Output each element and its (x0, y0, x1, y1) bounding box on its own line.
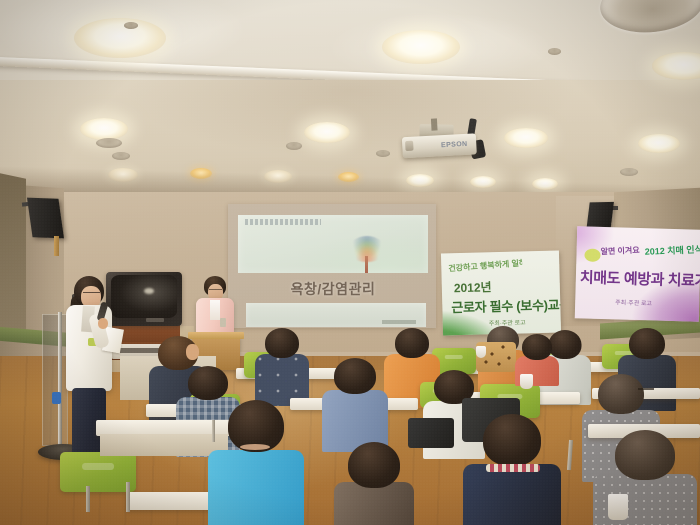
sprinkler-head-icon (548, 48, 561, 55)
ceiling-projector: EPSON (401, 120, 489, 158)
chair-leg (126, 482, 130, 512)
paper-cup (608, 494, 628, 520)
downlight (74, 18, 166, 58)
sprinkler-head-icon (620, 168, 638, 176)
banner-pink-main-text: 치매도 예방과 치료가 가 (580, 266, 700, 291)
chair-leg (212, 420, 215, 442)
banner-pink-subtitle-left: 알면 이겨요 (600, 245, 639, 258)
audience-member (480, 414, 544, 525)
downlight (304, 122, 350, 143)
slide-footer-mark (382, 320, 416, 324)
presenter-hand (98, 318, 108, 329)
audience-head (483, 414, 541, 466)
audience-torso (208, 450, 304, 525)
chair[interactable] (60, 452, 136, 492)
audience-torso (463, 464, 561, 525)
paper-cup (520, 374, 533, 389)
banner-pink-subtitle-right: 2012 치매 인식개선 (644, 242, 700, 258)
audience-head (188, 366, 228, 400)
banner-pink-dot-graphic (584, 249, 600, 262)
audience-head (615, 430, 675, 480)
audience-head (522, 334, 552, 360)
left-wall-return (0, 173, 26, 339)
glasses-icon (209, 289, 222, 292)
banner-support-pole (54, 236, 59, 256)
rainbow-tree-logo-icon (345, 236, 389, 274)
banner-green: 건강하고 행복하게 일하는 2012년 근로자 필수 (보수)교육 주최·주관 … (441, 250, 561, 335)
neck (240, 444, 270, 450)
banner-green-script-line: 건강하고 행복하게 일하는 (448, 258, 523, 275)
downlight (80, 118, 128, 140)
banner-pink: 알면 이겨요 2012 치매 인식개선 치매도 예방과 치료가 가 주최·주관 … (575, 226, 700, 321)
sprinkler-head-icon (96, 138, 122, 148)
wall-speaker-left (27, 198, 64, 239)
downlight (504, 128, 548, 148)
glasses-icon (83, 292, 100, 296)
inner-shirt (210, 300, 220, 320)
audience-head (265, 328, 299, 358)
presenter-at-podium (192, 276, 238, 338)
chair-handle-slot (445, 355, 463, 359)
tv-screen (111, 275, 177, 318)
downlight (638, 134, 680, 153)
slide-header-text (245, 219, 321, 225)
audience-head (334, 358, 376, 394)
audience-head (629, 328, 665, 359)
audience-face-profile (186, 344, 199, 360)
bag (408, 418, 454, 448)
audience-member (520, 334, 554, 378)
banner-green-year: 2012년 (454, 278, 492, 296)
glasses-icon (638, 388, 654, 392)
slide-title-text: 욕창/감염관리 (238, 278, 428, 300)
chair-leg (86, 486, 90, 512)
tv-brand-badge (146, 318, 164, 322)
sprinkler-head-icon (112, 152, 130, 160)
projector-brand-label: EPSON (436, 139, 473, 152)
sprinkler-head-icon (376, 150, 390, 157)
projector-lens (405, 141, 414, 151)
audience-head (598, 374, 644, 414)
tree-trunk (365, 256, 368, 273)
table-side-panel (100, 434, 228, 456)
sprinkler-head-icon (124, 22, 138, 29)
name-badge (220, 318, 226, 327)
audience-member (224, 400, 288, 525)
downlight (382, 30, 460, 64)
sprinkler-head-icon (286, 142, 302, 150)
chair-handle-slot (82, 463, 114, 469)
audience-member (346, 442, 402, 525)
seminar-room-photograph: EPSON 욕창/감염관리 건강하고 행복하게 일하는 2012년 근로자 필수… (0, 0, 700, 525)
audience-head (348, 442, 400, 488)
projector-mount-arm (431, 118, 438, 130)
banner-pink-logos: 주최·주관 로고 (615, 297, 695, 308)
tv-screen-glare (144, 288, 154, 294)
banner-green-main-text: 근로자 필수 (보수)교육 (451, 294, 561, 316)
collar-pattern (486, 464, 540, 472)
audience-head (395, 328, 429, 358)
paper-cup (476, 346, 486, 358)
audience-torso (334, 482, 414, 525)
